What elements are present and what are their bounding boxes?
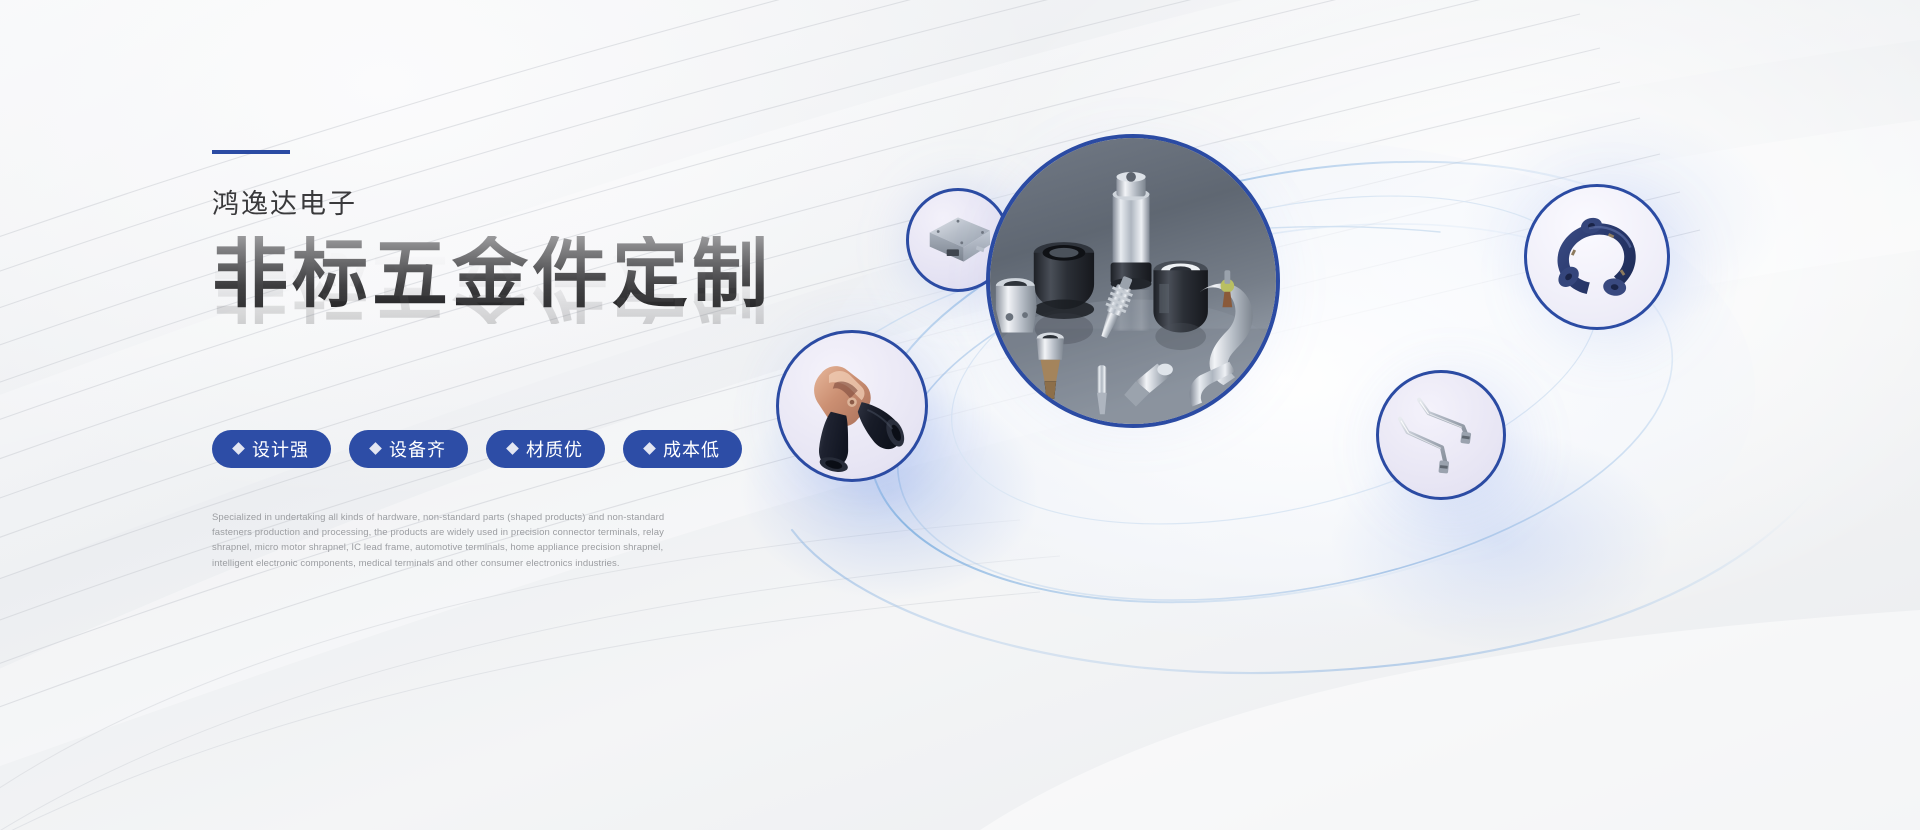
- bent-terminal-pins-icon: [1379, 373, 1503, 497]
- product-bubble-precision-connector-parts[interactable]: [986, 134, 1280, 428]
- alligator-clip-icon: [779, 333, 925, 479]
- diamond-icon: [232, 442, 245, 455]
- company-description: Specialized in undertaking all kinds of …: [212, 510, 682, 572]
- feature-pill-label: 成本低: [663, 436, 720, 462]
- feature-pill-design[interactable]: 设计强: [212, 430, 331, 468]
- feature-pill-material[interactable]: 材质优: [486, 430, 605, 468]
- product-bubble-bent-terminal-pins[interactable]: [1376, 370, 1506, 500]
- retaining-ring-clip-icon: [1527, 187, 1667, 327]
- precision-connector-parts-icon: [990, 138, 1276, 424]
- brand-name: 鸿逸达电子: [212, 190, 832, 220]
- feature-pill-list: 设计强 设备齐 材质优 成本低: [212, 430, 832, 468]
- diamond-icon: [369, 442, 382, 455]
- feature-pill-label: 材质优: [526, 436, 583, 462]
- feature-pill-equipment[interactable]: 设备齐: [349, 430, 468, 468]
- product-showcase: [740, 60, 1870, 760]
- product-bubble-retaining-ring-clip[interactable]: [1524, 184, 1670, 330]
- hero-copy: 鸿逸达电子 非标五金件定制 非标五金件定制 设计强 设备齐 材质优 成本低: [212, 150, 832, 571]
- feature-pill-label: 设备齐: [389, 436, 446, 462]
- hero-banner: 鸿逸达电子 非标五金件定制 非标五金件定制 设计强 设备齐 材质优 成本低: [0, 0, 1920, 830]
- product-bubble-alligator-clip[interactable]: [776, 330, 928, 482]
- diamond-icon: [643, 442, 656, 455]
- feature-pill-cost[interactable]: 成本低: [623, 430, 742, 468]
- headline-wrapper: 非标五金件定制 非标五金件定制: [212, 236, 832, 368]
- diamond-icon: [506, 442, 519, 455]
- page-title: 非标五金件定制: [212, 236, 832, 314]
- accent-bar: [212, 150, 290, 154]
- feature-pill-label: 设计强: [252, 436, 309, 462]
